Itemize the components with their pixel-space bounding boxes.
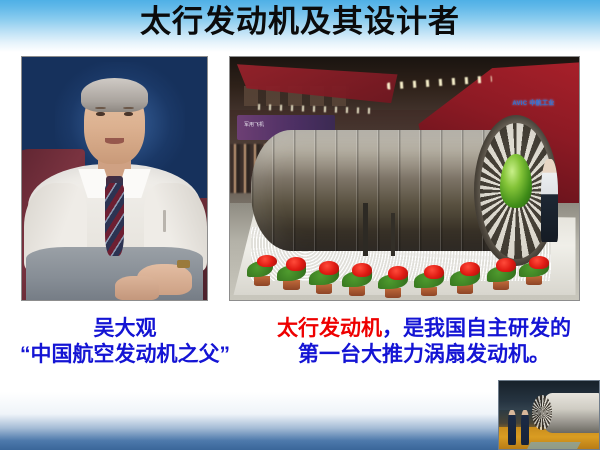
flower-bloom	[286, 257, 306, 271]
hangar-engine-fan	[532, 395, 552, 430]
portrait-wristwatch	[177, 260, 190, 269]
caption-engine-line1: 太行发动机，是我国自主研发的	[250, 316, 598, 342]
page-title: 太行发动机及其设计者	[0, 3, 600, 41]
flower-bloom	[496, 258, 516, 272]
hangar-floor-stripe	[527, 442, 581, 449]
red-flower-border	[240, 234, 568, 297]
flower-pot	[457, 284, 473, 293]
caption-engine-line2: 第一台大推力涡扇发动机。	[250, 342, 598, 368]
slide-canvas: 太行发动机及其设计者	[0, 0, 600, 450]
flower-pot	[316, 284, 332, 294]
portrait-hair	[81, 78, 148, 112]
portrait-necktie	[105, 183, 124, 256]
flower-bloom	[352, 263, 372, 277]
flower-bloom	[460, 262, 480, 276]
flower-bloom	[424, 265, 444, 279]
caption-designer-name: 吴大观	[0, 316, 250, 342]
hangar-technician-1	[508, 410, 516, 445]
booth-sign-text: 军用飞机	[244, 121, 264, 128]
engine-hangar-photo	[498, 380, 600, 450]
hangar-technician-2	[521, 410, 529, 445]
caption-designer-title: “中国航空发动机之父”	[0, 342, 250, 368]
flower-bloom	[319, 261, 339, 275]
portrait-photo-content	[22, 57, 207, 300]
hangar-photo-content	[499, 381, 599, 449]
flower-pot	[254, 276, 270, 286]
flower-pot	[493, 281, 509, 290]
flower-bloom	[529, 256, 549, 269]
flower-pot	[526, 276, 542, 285]
flower-pot	[385, 288, 401, 297]
portrait-mouth	[105, 138, 124, 143]
flower-pot	[283, 280, 299, 290]
standing-visitor	[541, 159, 558, 242]
portrait-hand-left	[115, 276, 159, 300]
engine-exhibition-photo: AVIC 中航工业 军用飞机	[229, 56, 580, 301]
avic-logo-text: AVIC 中航工业	[512, 98, 554, 107]
engine-photo-content: AVIC 中航工业 军用飞机	[230, 57, 579, 300]
portrait-eye-left	[96, 112, 105, 116]
flower-bloom	[257, 255, 277, 268]
portrait-photo	[21, 56, 208, 301]
flower-bloom	[388, 266, 408, 280]
portrait-eye-right	[124, 112, 133, 116]
flower-pot	[421, 287, 437, 296]
flower-pot	[349, 286, 365, 296]
caption-engine-highlight: 太行发动机	[277, 317, 382, 340]
caption-engine-line1-rest: ，是我国自主研发的	[382, 317, 571, 340]
portrait-pocket-pen	[163, 210, 166, 232]
